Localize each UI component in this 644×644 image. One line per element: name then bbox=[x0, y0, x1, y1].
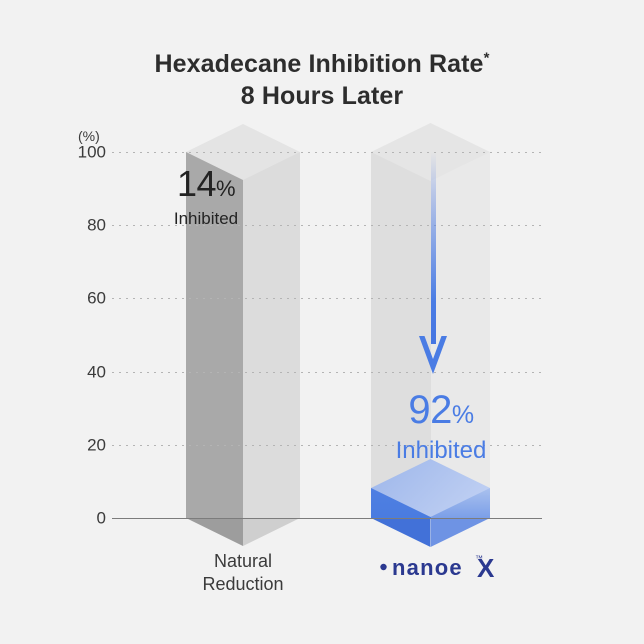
chart-title-footnote-marker: * bbox=[484, 50, 490, 67]
y-tick-label-60: 60 bbox=[64, 290, 106, 307]
y-tick-label-0: 0 bbox=[64, 510, 106, 527]
natural-reduction-value-number: 14 bbox=[177, 163, 216, 204]
svg-text:nanoe: nanoe bbox=[392, 555, 463, 580]
axis-baseline-0 bbox=[112, 518, 542, 519]
chart-title-line-1: Hexadecane Inhibition Rate* bbox=[0, 48, 644, 80]
svg-text:™: ™ bbox=[475, 554, 483, 563]
y-tick-label-20: 20 bbox=[64, 436, 106, 453]
category-label-natural-reduction: Natural Reduction bbox=[148, 550, 338, 596]
bar-nanoe-x bbox=[371, 488, 490, 518]
blue-bar-bottom-right-facet bbox=[431, 518, 491, 547]
natural-reduction-percent-symbol: % bbox=[216, 176, 235, 201]
grey-bar-bottom-right-facet bbox=[243, 518, 300, 546]
chart-title-line-2: 8 Hours Later bbox=[0, 80, 644, 112]
nanoe-x-percent-symbol: % bbox=[452, 401, 474, 429]
chart-title: Hexadecane Inhibition Rate* 8 Hours Late… bbox=[0, 48, 644, 112]
blue-bar-bottom-cap bbox=[371, 518, 490, 547]
chart-title-text: Hexadecane Inhibition Rate bbox=[154, 50, 483, 78]
value-callout-natural-reduction: 14% Inhibited bbox=[112, 164, 300, 229]
gridline-100 bbox=[112, 152, 542, 153]
natural-reduction-annotation: Inhibited bbox=[112, 209, 300, 229]
y-tick-label-80: 80 bbox=[64, 217, 106, 234]
y-axis-tick-labels: 100 80 60 40 20 0 bbox=[50, 152, 106, 518]
reduction-arrow-shaft bbox=[431, 152, 436, 344]
natural-reduction-value: 14% bbox=[112, 164, 300, 209]
grey-bar-bottom-left-facet bbox=[186, 518, 243, 546]
category-label-natural-reduction-line-2: Reduction bbox=[148, 573, 338, 596]
nanoe-x-logo: nanoe X ™ bbox=[357, 552, 517, 582]
nanoe-x-value-number: 92 bbox=[408, 388, 452, 432]
reduction-arrow-head bbox=[417, 334, 449, 376]
gridline-40 bbox=[112, 372, 542, 373]
blue-bar-bottom-left-facet bbox=[371, 518, 431, 547]
y-tick-label-100: 100 bbox=[64, 144, 106, 161]
category-label-natural-reduction-line-1: Natural bbox=[148, 550, 338, 573]
nanoe-x-annotation: Inhibited bbox=[356, 437, 526, 465]
reduction-arrow bbox=[428, 152, 438, 376]
value-callout-nanoe-x: 92% Inhibited bbox=[356, 388, 526, 465]
y-tick-label-40: 40 bbox=[64, 363, 106, 380]
nanoe-x-value: 92% bbox=[356, 388, 526, 437]
gridline-60 bbox=[112, 298, 542, 299]
grey-bar-bottom-cap bbox=[186, 518, 300, 546]
